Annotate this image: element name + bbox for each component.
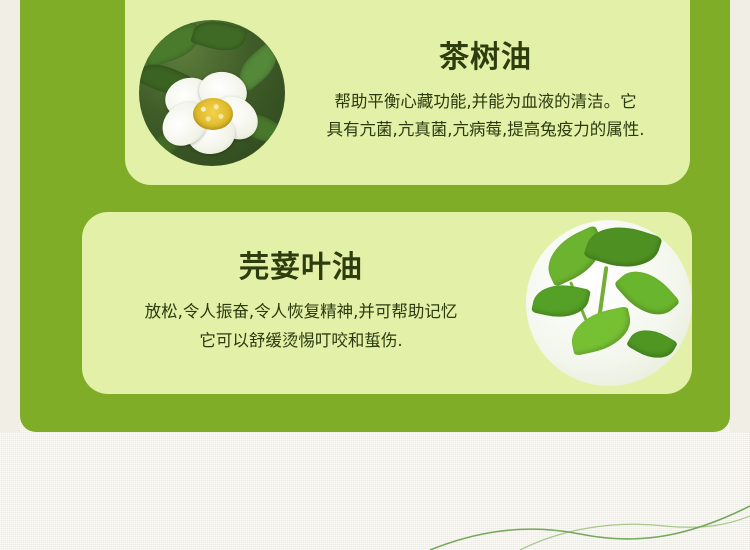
leaf-icon (626, 321, 678, 367)
leaf-icon (190, 20, 248, 57)
coriander-illustration (526, 220, 692, 386)
stamen-shape (193, 98, 233, 130)
tea-tree-flower-photo (139, 20, 285, 166)
tea-tree-description: 帮助平衡心藏功能,并能为血液的清洁。它 具有亢菌,亢真菌,亢病莓,提高兔疫力的属… (303, 88, 668, 144)
coriander-title: 芫荽叶油 (92, 251, 510, 284)
coriander-description: 放松,令人振奋,令人恢复精神,并可帮助记忆 它可以舒缓烫惕叮咬和蜇伤. (92, 298, 510, 354)
green-content-panel: 茶树油 帮助平衡心藏功能,并能为血液的清洁。它 具有亢菌,亢真菌,亢病莓,提高兔… (20, 0, 730, 432)
ingredient-card-coriander: 芫荽叶油 放松,令人振奋,令人恢复精神,并可帮助记忆 它可以舒缓烫惕叮咬和蜇伤. (82, 212, 692, 394)
tea-tree-illustration (139, 20, 285, 166)
leaf-icon (567, 306, 636, 356)
ingredient-card-tea-tree: 茶树油 帮助平衡心藏功能,并能为血液的清洁。它 具有亢菌,亢真菌,亢病莓,提高兔… (125, 0, 690, 185)
tea-tree-title: 茶树油 (303, 41, 668, 74)
right-margin-strip (730, 0, 750, 432)
tea-tree-text-block: 茶树油 帮助平衡心藏功能,并能为血液的清洁。它 具有亢菌,亢真菌,亢病莓,提高兔… (285, 41, 674, 144)
flower-icon (165, 72, 261, 158)
left-margin-strip (0, 0, 20, 432)
coriander-text-block: 芫荽叶油 放松,令人振奋,令人恢复精神,并可帮助记忆 它可以舒缓烫惕叮咬和蜇伤. (82, 251, 516, 354)
leaf-icon (531, 279, 591, 323)
coriander-leaf-photo (526, 220, 692, 386)
